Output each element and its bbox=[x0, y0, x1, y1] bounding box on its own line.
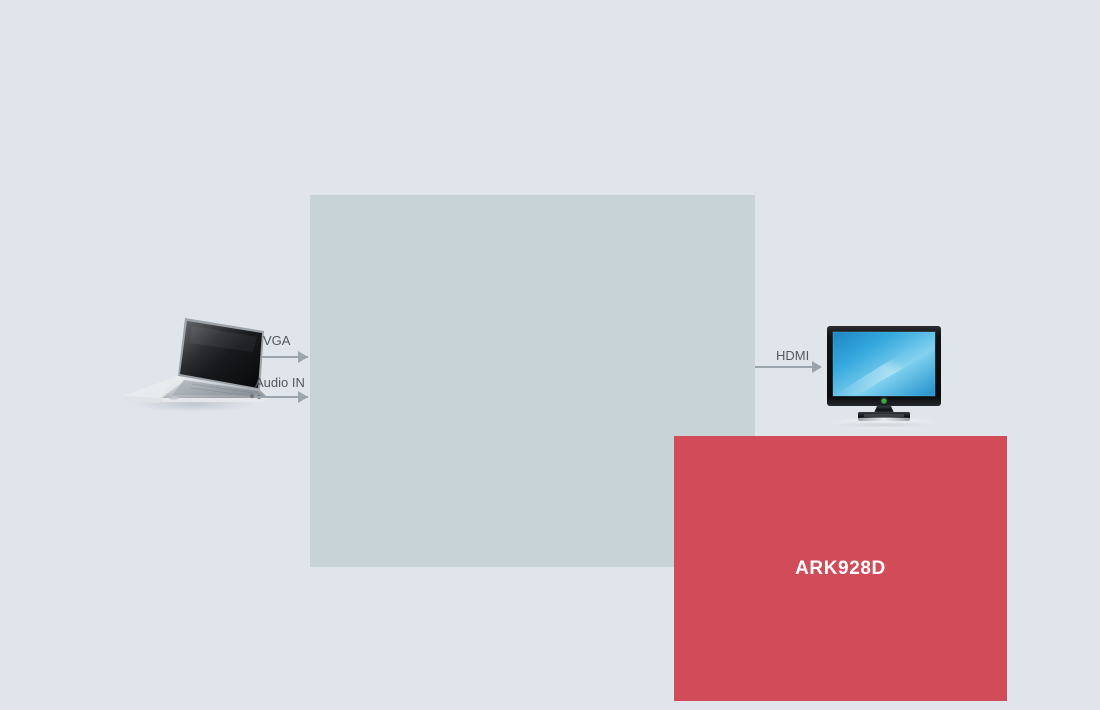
power-indicator-icon bbox=[881, 398, 887, 404]
connector-label-vga: VGA bbox=[263, 333, 290, 348]
television-icon bbox=[820, 324, 948, 430]
connector-arrow-vga bbox=[298, 351, 308, 363]
laptop-graphic bbox=[112, 312, 272, 412]
device-label: ARK928D bbox=[795, 558, 886, 580]
television-graphic bbox=[820, 324, 948, 430]
diagram-canvas: ARK928D bbox=[0, 0, 1100, 710]
connector-label-audio-in: Audio IN bbox=[255, 375, 305, 390]
connector-label-hdmi: HDMI bbox=[776, 348, 809, 363]
laptop-icon bbox=[112, 312, 272, 412]
device-outer-panel: ARK928D bbox=[310, 195, 755, 567]
device-screen: ARK928D bbox=[674, 436, 1007, 701]
connector-arrow-audio bbox=[298, 391, 308, 403]
connector-line-hdmi bbox=[755, 366, 817, 368]
television-neck bbox=[874, 406, 894, 413]
